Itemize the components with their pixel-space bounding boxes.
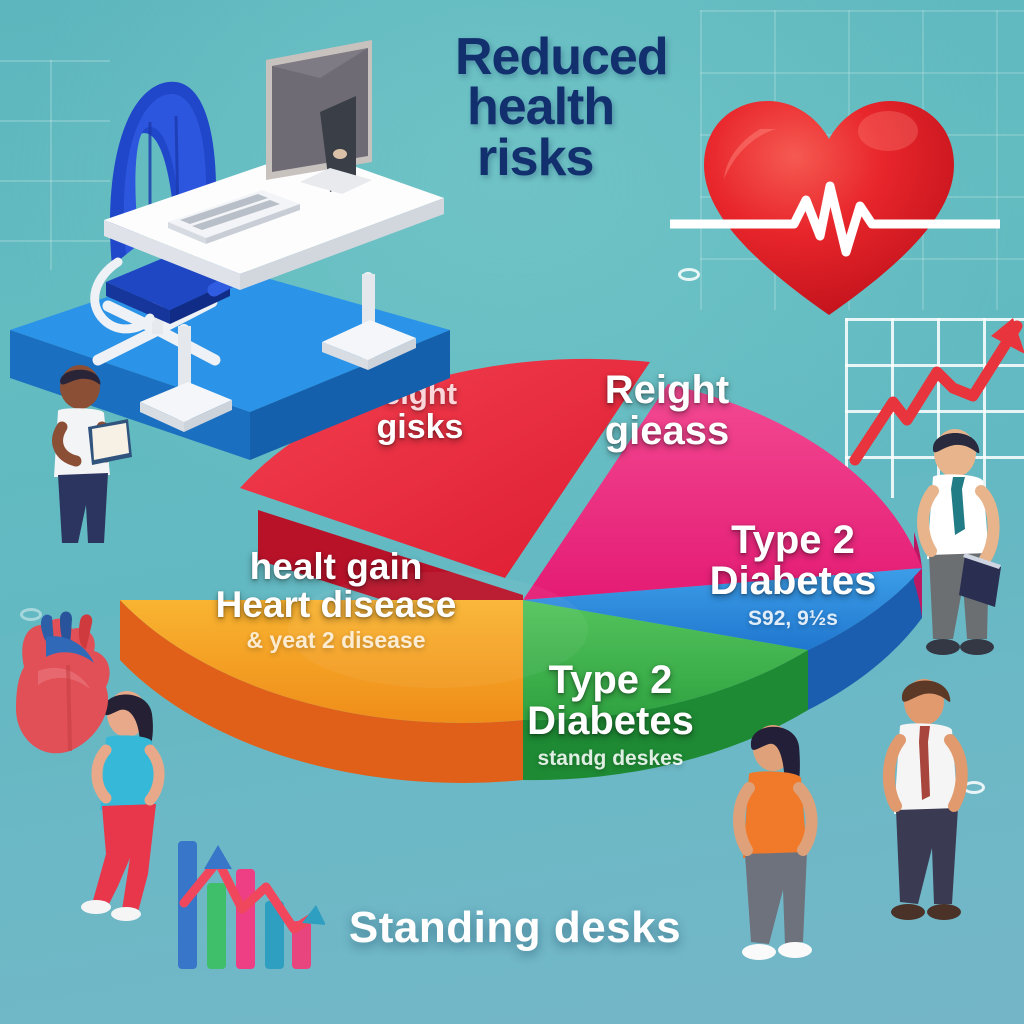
- figure-clipboard-man: [28, 365, 138, 545]
- page-title-line1: Reduced: [455, 32, 755, 82]
- floor-marker-ring: [678, 268, 700, 281]
- anatomical-heart-icon: [2, 605, 137, 765]
- figure-orange-woman: [725, 718, 825, 983]
- figure-redtie-man: [878, 672, 973, 942]
- bottom-caption: Standing desks: [300, 903, 730, 953]
- figure-business-man: [905, 425, 1010, 665]
- ecg-pulse-line: [670, 180, 1000, 260]
